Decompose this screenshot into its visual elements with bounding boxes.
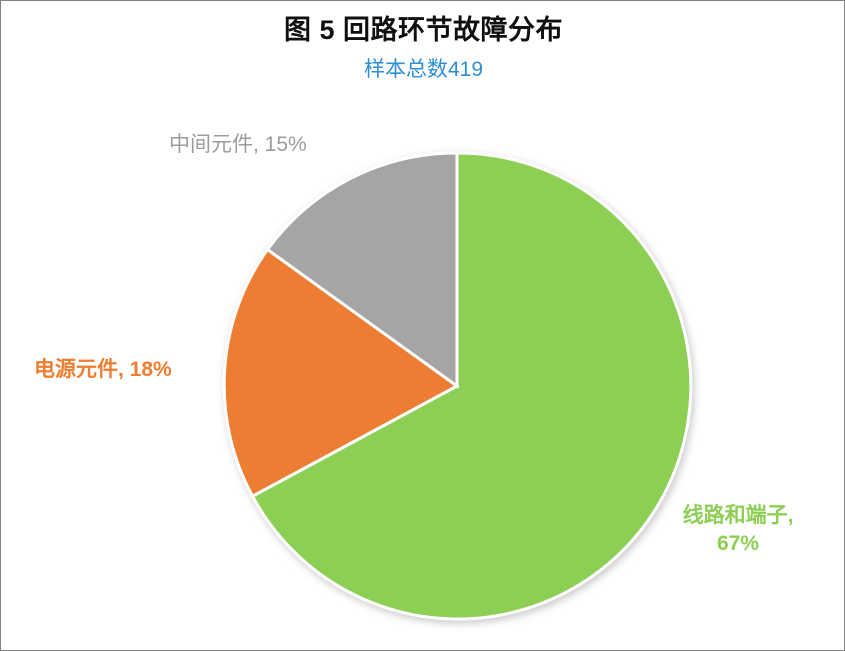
chart-canvas: 图 5 回路环节故障分布 样本总数419 中间元件, 15% 电源元件, 18%… — [0, 0, 845, 651]
pie-data-label-line-and-terminal: 线路和端子, 67% — [673, 502, 803, 557]
pie-slices-group — [224, 153, 691, 619]
pie-data-label-line-and-terminal-line2: 67% — [717, 532, 759, 555]
pie-data-label-line-and-terminal-line1: 线路和端子, — [683, 504, 794, 527]
pie-data-label-power-component: 电源元件, 18% — [34, 356, 172, 384]
pie-data-label-intermediate-component: 中间元件, 15% — [169, 131, 307, 159]
